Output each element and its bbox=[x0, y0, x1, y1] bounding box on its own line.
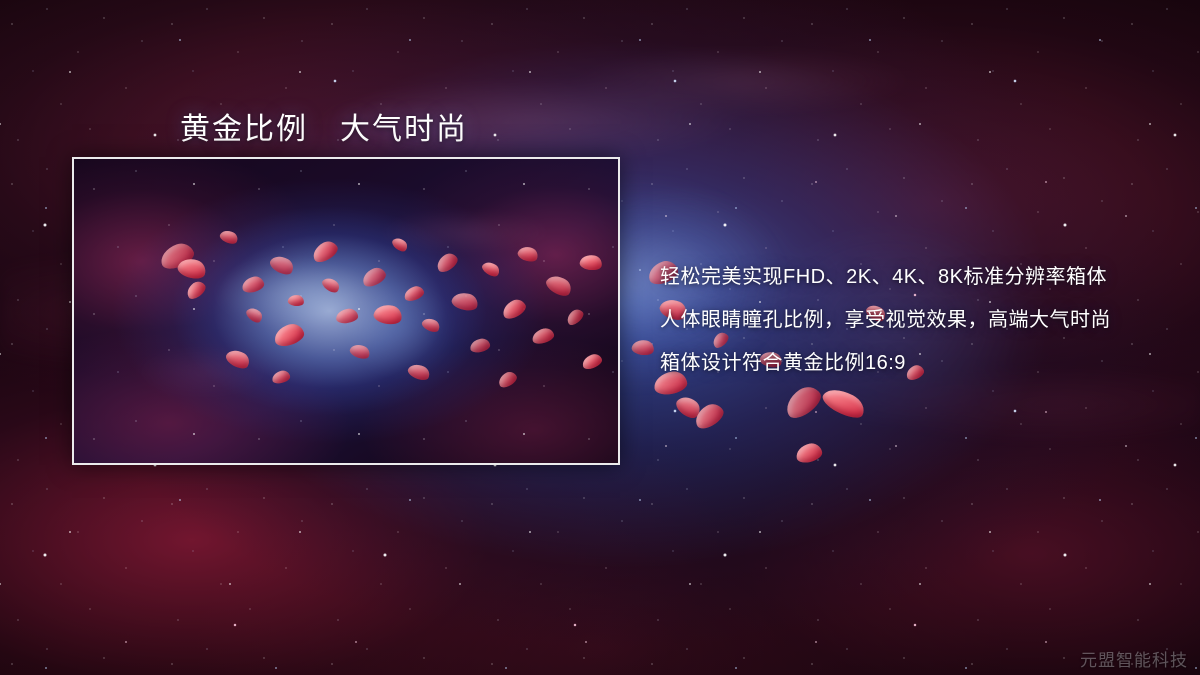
petal-icon bbox=[184, 279, 208, 302]
petal-icon bbox=[320, 275, 342, 295]
petal-icon bbox=[434, 250, 461, 274]
petal-icon bbox=[372, 302, 403, 326]
petal-icon bbox=[579, 253, 603, 272]
petal-icon bbox=[691, 400, 727, 432]
petal-icon bbox=[348, 342, 371, 362]
petal-icon bbox=[218, 228, 239, 246]
petal-icon bbox=[310, 238, 341, 265]
petal-icon bbox=[450, 290, 480, 314]
petal-icon bbox=[819, 383, 868, 423]
body-line-1: 轻松完美实现FHD、2K、4K、8K标准分辨率箱体 bbox=[660, 256, 1180, 299]
watermark: 元盟智能科技 bbox=[1080, 646, 1188, 671]
petal-icon bbox=[516, 244, 540, 264]
petal-icon bbox=[360, 265, 388, 289]
preview-image bbox=[74, 159, 618, 463]
petal-icon bbox=[580, 352, 603, 371]
preview-image-frame bbox=[72, 157, 620, 465]
petal-icon bbox=[673, 392, 704, 422]
petal-icon bbox=[402, 284, 425, 303]
page-title: 黄金比例 大气时尚 bbox=[180, 104, 468, 148]
petal-icon bbox=[287, 294, 304, 307]
petal-icon bbox=[420, 315, 442, 334]
petal-icon bbox=[469, 337, 491, 353]
petal-icon bbox=[244, 305, 265, 325]
petal-icon bbox=[268, 252, 297, 278]
petal-icon bbox=[496, 369, 519, 389]
petal-icon bbox=[406, 361, 432, 383]
petal-icon bbox=[781, 381, 826, 422]
petal-icon bbox=[480, 259, 502, 279]
petal-icon bbox=[335, 308, 358, 324]
petal-icon bbox=[271, 369, 291, 384]
slide-canvas: 黄金比例 大气时尚 轻松完美实现FHD、2K、4K、8K标准分辨率箱体 人体眼睛… bbox=[0, 0, 1200, 675]
petal-icon bbox=[224, 346, 253, 372]
petal-icon bbox=[272, 321, 306, 348]
petal-icon bbox=[631, 338, 655, 357]
petal-icon bbox=[531, 327, 556, 346]
petal-icon bbox=[794, 441, 823, 464]
petal-icon bbox=[500, 297, 529, 322]
preview-petals bbox=[74, 159, 618, 463]
petal-icon bbox=[543, 271, 574, 299]
petal-icon bbox=[390, 235, 409, 254]
body-line-3: 箱体设计符合黄金比例16:9 bbox=[660, 342, 1180, 385]
petal-icon bbox=[241, 275, 266, 294]
body-line-2: 人体眼睛瞳孔比例，享受视觉效果，高端大气时尚 bbox=[660, 299, 1180, 342]
body-text-block: 轻松完美实现FHD、2K、4K、8K标准分辨率箱体 人体眼睛瞳孔比例，享受视觉效… bbox=[660, 256, 1180, 385]
petal-icon bbox=[564, 307, 586, 328]
